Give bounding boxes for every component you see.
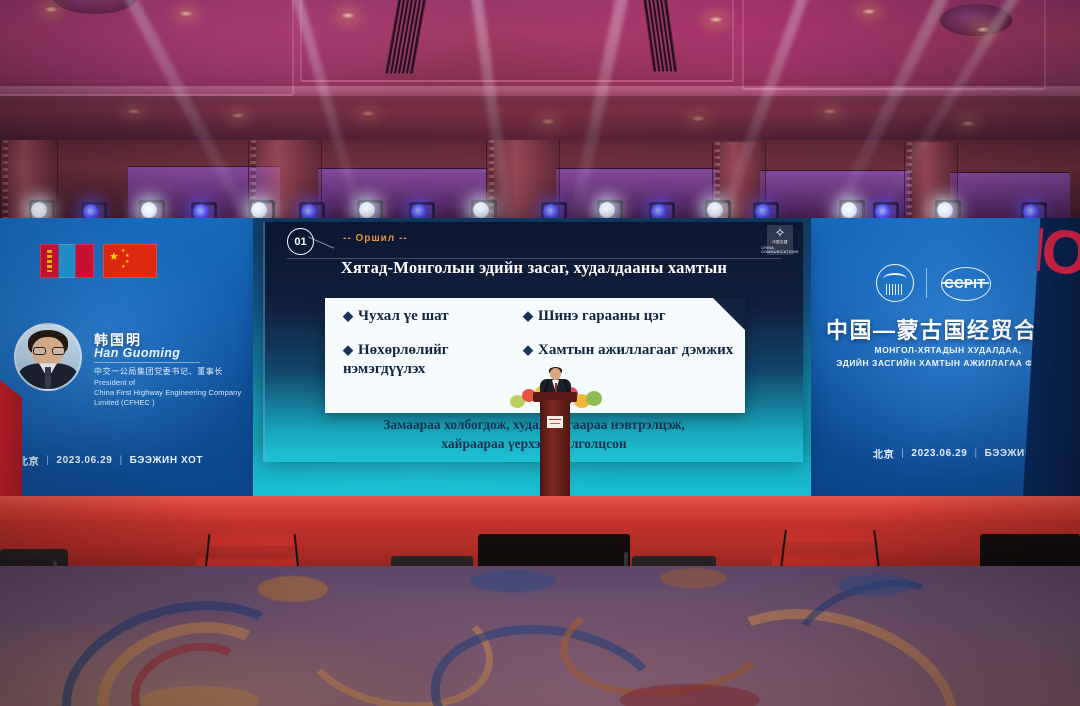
event-date: 2023.06.29	[911, 448, 967, 459]
ceiling-coffer	[0, 0, 294, 96]
diamond-bullet-icon: ◆	[343, 308, 353, 323]
left-panel-footer: 北京 | 2023.06.29 | БЭЭЖИН ХОТ	[18, 453, 203, 468]
speaker-title-en-3: Limited (CFHEC )	[94, 398, 155, 409]
logo-divider	[926, 268, 927, 298]
ccpit-logo-icon: CCPIT	[939, 265, 991, 301]
section-number-badge: 01	[287, 228, 314, 255]
cccc-logo-icon: ✧ 中国交建 CHINA COMMUNICATIONS	[767, 225, 793, 255]
event-date: 2023.06.29	[56, 455, 112, 466]
section-label: -- Оршил --	[343, 233, 408, 244]
city-mn: БЭЭЖИН ХОТ	[130, 455, 203, 466]
diamond-bullet-icon: ◆	[523, 308, 533, 323]
flag-pair: ★ ★ ★ ★ ★	[40, 244, 157, 278]
diamond-bullet-icon: ◆	[343, 342, 353, 357]
cccc-logo-sublabel: CHINA COMMUNICATIONS	[761, 246, 798, 254]
mongolia-chamber-emblem-icon	[876, 264, 914, 302]
bullet-text: Хамтын ажиллагааг дэмжих	[538, 342, 733, 358]
separator: |	[119, 455, 122, 466]
ceiling-downlight	[861, 8, 877, 15]
slide-title: Хятад-Монголын эдийн засаг, худалдааны х…	[265, 258, 803, 278]
mongolia-flag	[40, 244, 94, 278]
carpet-motif	[838, 574, 912, 596]
bullet-text: Шинэ гарааны цэг	[538, 308, 666, 324]
star-icon: ★	[121, 265, 125, 270]
star-icon: ★	[125, 260, 129, 265]
carpet-motif	[660, 568, 726, 588]
diamond-bullet-icon: ◆	[523, 342, 533, 357]
stage-apron	[0, 496, 1080, 522]
left-red-accent	[0, 380, 22, 504]
wall-soffit	[0, 96, 1080, 144]
speaker-title-cn: 中交一公局集团党委书记、董事长	[94, 366, 223, 377]
slide-bullet-3: ◆Нөхөрлөлийг нэмэгдүүлэх	[343, 340, 523, 379]
star-icon: ★	[109, 252, 119, 263]
flower	[586, 391, 602, 406]
ceiling-downlight	[975, 26, 991, 33]
speaker-portrait-photo	[14, 323, 82, 391]
ceiling-downlight	[708, 16, 724, 23]
separator: |	[901, 448, 904, 459]
separator: |	[46, 455, 49, 466]
conference-stage-photo: ★ ★ ★ ★ ★ 韩国明 Han Guoming 中交一公局集团党委书记、董事…	[0, 0, 1080, 706]
slide-bullet-2: ◆Шинэ гарааны цэг	[523, 306, 743, 326]
lectern	[533, 392, 577, 512]
ceiling-downlight	[43, 6, 59, 13]
organizer-logos: CCPIT	[876, 264, 991, 302]
ceiling-downlight	[178, 10, 194, 17]
carpet-motif	[470, 570, 556, 592]
ceiling-downlight	[340, 12, 356, 19]
slide-bullet-1: ◆Чухал үе шат	[343, 306, 523, 326]
carpet-motif	[258, 576, 328, 602]
separator: |	[974, 448, 977, 459]
cccc-logo-label: 中国交建	[772, 240, 788, 245]
patterned-ballroom-carpet	[0, 566, 1080, 706]
bullet-text: Нөхөрлөлийг нэмэгдүүлэх	[343, 342, 449, 377]
china-flag: ★ ★ ★ ★ ★	[103, 244, 157, 278]
speaker-name-en: Han Guoming	[94, 346, 180, 360]
speaker-title-en-2: China First Highway Engineering Company	[94, 388, 241, 399]
ccpit-label: CCPIT	[944, 276, 986, 291]
bullet-text: Чухал үе шат	[358, 308, 449, 324]
name-divider	[94, 362, 200, 363]
city-cn: 北京	[873, 446, 894, 461]
speaker-title-en-1: President of	[94, 378, 135, 389]
lectern-nameplate	[547, 416, 563, 428]
slide-bullet-4: ◆Хамтын ажиллагааг дэмжих	[523, 340, 738, 360]
compass-icon: ✧	[775, 226, 786, 239]
